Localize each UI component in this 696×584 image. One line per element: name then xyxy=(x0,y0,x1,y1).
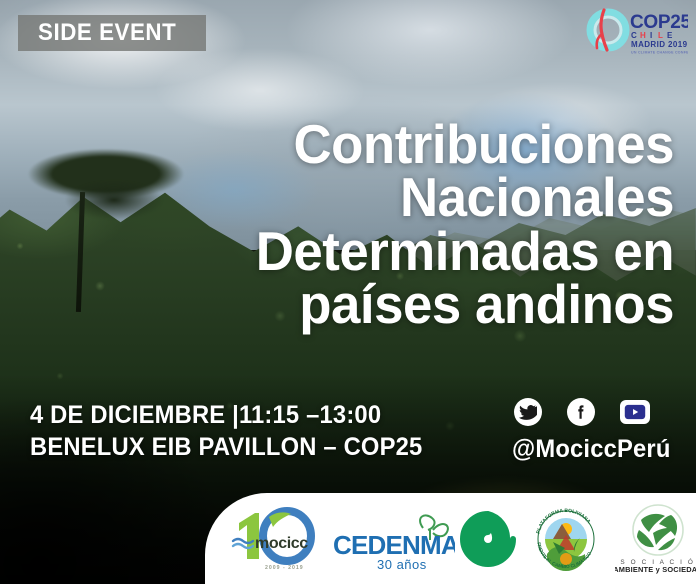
mocicc-wordmark: mocicc xyxy=(255,535,308,552)
cedenma-wordmark: CEDENMA xyxy=(333,530,455,560)
youtube-icon[interactable] xyxy=(620,400,650,424)
svg-text:C: C xyxy=(631,31,637,40)
title-line-2: Nacionales xyxy=(136,171,674,224)
side-event-badge: SIDE EVENT xyxy=(18,15,206,51)
cop25-subline: UN CLIMATE CHANGE CONFERENCE xyxy=(631,51,688,55)
cop25-madrid-text: MADRID 2019 xyxy=(631,40,688,49)
cedenma-tagline: 30 años xyxy=(377,557,427,572)
event-venue: BENELUX EIB PAVILLON – COP25 xyxy=(30,431,422,463)
social-handle[interactable]: @MociccPerú xyxy=(512,435,664,464)
cop25-wordmark: COP25 xyxy=(630,12,688,33)
mocicc-years: 2009 - 2019 xyxy=(265,565,304,571)
svg-text:I: I xyxy=(650,31,652,40)
asociacion-line-2: AMBIENTE y SOCIEDAD xyxy=(615,565,696,574)
svg-text:H: H xyxy=(640,31,646,40)
social-icons xyxy=(512,398,672,426)
spiral-logo xyxy=(457,508,519,570)
partner-logos: mocicc 2009 - 2019 CEDENMA 30 años xyxy=(205,502,696,576)
asociacion-leaf-mark xyxy=(637,513,677,549)
partner-logo-band: mocicc 2009 - 2019 CEDENMA 30 años xyxy=(205,493,696,584)
event-date-time: 4 DE DICIEMBRE |11:15 –13:00 xyxy=(30,399,422,431)
page-title: Contribuciones Nacionales Determinadas e… xyxy=(114,118,674,331)
mocicc-logo: mocicc 2009 - 2019 xyxy=(229,503,337,575)
plataforma-boliviana-logo: PLATAFORMA BOLIVIANA FRENTE AL CAMBIO CL… xyxy=(529,502,603,576)
twitter-icon[interactable] xyxy=(514,398,542,426)
event-details: 4 DE DICIEMBRE |11:15 –13:00 BENELUX EIB… xyxy=(30,399,443,463)
svg-text:L: L xyxy=(658,31,663,40)
side-event-badge-label: SIDE EVENT xyxy=(38,19,176,47)
social-block: @MociccPerú xyxy=(512,398,672,464)
cop25-logo: COP25 C H I L E MADRID 2019 UN CLIMATE C… xyxy=(578,4,688,56)
svg-text:E: E xyxy=(667,31,673,40)
cop25-swirl-mark xyxy=(590,10,626,50)
cedenma-logo: CEDENMA 30 años xyxy=(333,506,455,572)
facebook-icon[interactable] xyxy=(567,398,595,426)
title-line-4: países andinos xyxy=(136,278,674,331)
title-line-1: Contribuciones xyxy=(136,118,674,171)
asociacion-ambiente-y-sociedad-logo: A S O C I A C I Ó N AMBIENTE y SOCIEDAD xyxy=(615,502,696,576)
side-event-poster: Andean cloud forest canopy with lone fla… xyxy=(0,0,696,584)
title-line-3: Determinadas en xyxy=(136,225,674,278)
